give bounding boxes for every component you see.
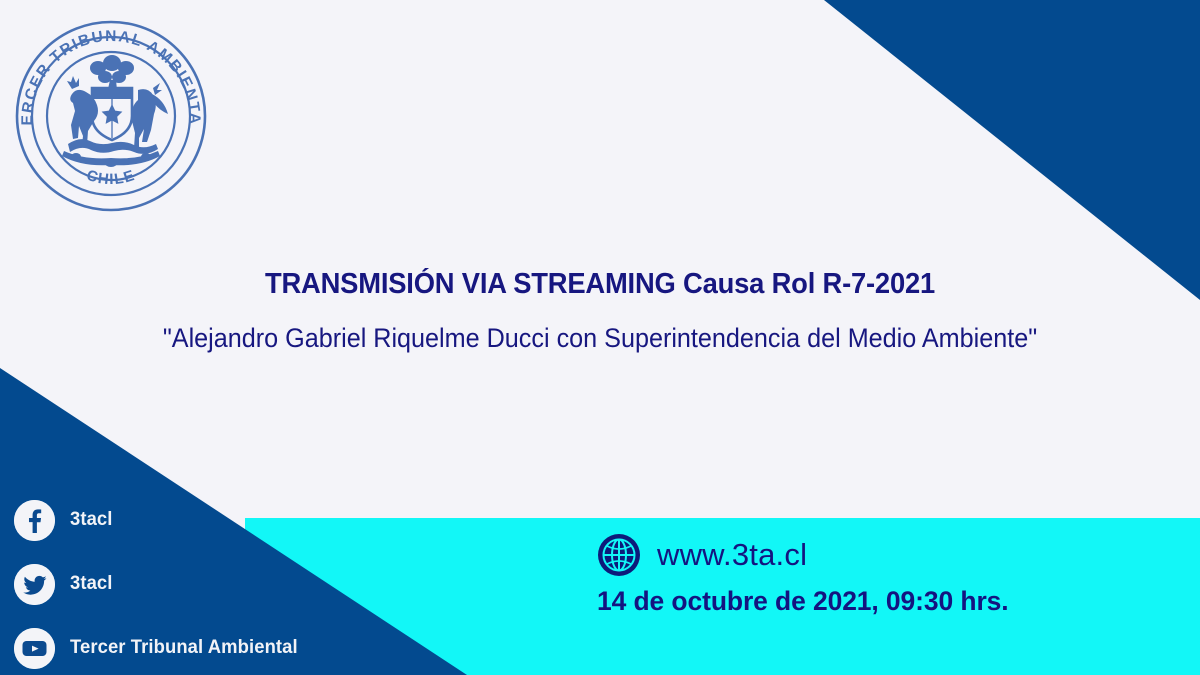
streaming-announcement-slide: TERCER TRIBUNAL AMBIENTAL CHILE xyxy=(0,0,1200,675)
event-datetime: 14 de octubre de 2021, 09:30 hrs. xyxy=(597,586,1009,617)
social-label-twitter: 3tacl xyxy=(70,573,112,595)
website-row[interactable]: www.3ta.cl xyxy=(597,533,1017,577)
facebook-icon[interactable] xyxy=(14,500,55,541)
web-and-date-block: www.3ta.cl 14 de octubre de 2021, 09:30 … xyxy=(597,533,1017,617)
page-title: TRANSMISIÓN VIA STREAMING Causa Rol R-7-… xyxy=(24,268,1176,301)
title-block: TRANSMISIÓN VIA STREAMING Causa Rol R-7-… xyxy=(0,268,1200,355)
globe-icon xyxy=(597,533,641,577)
twitter-icon[interactable] xyxy=(14,564,55,605)
social-label-youtube: Tercer Tribunal Ambiental xyxy=(70,637,298,659)
case-subtitle: "Alejandro Gabriel Riquelme Ducci con Su… xyxy=(30,301,1170,355)
seal-graphic: TERCER TRIBUNAL AMBIENTAL CHILE xyxy=(6,20,216,212)
seal-bottom-text: CHILE xyxy=(84,167,137,189)
institution-seal: TERCER TRIBUNAL AMBIENTAL CHILE xyxy=(6,20,216,212)
social-link-twitter[interactable]: 3tacl xyxy=(14,552,305,616)
social-label-facebook: 3tacl xyxy=(70,509,112,531)
social-link-youtube[interactable]: Tercer Tribunal Ambiental xyxy=(14,616,305,675)
social-link-facebook[interactable]: 3tacl xyxy=(14,488,305,552)
coat-of-arms xyxy=(62,55,168,167)
social-links-list: 3tacl 3tacl Tercer Tribunal Ambiental xyxy=(14,488,305,675)
website-url[interactable]: www.3ta.cl xyxy=(657,537,807,573)
youtube-icon[interactable] xyxy=(14,628,55,669)
